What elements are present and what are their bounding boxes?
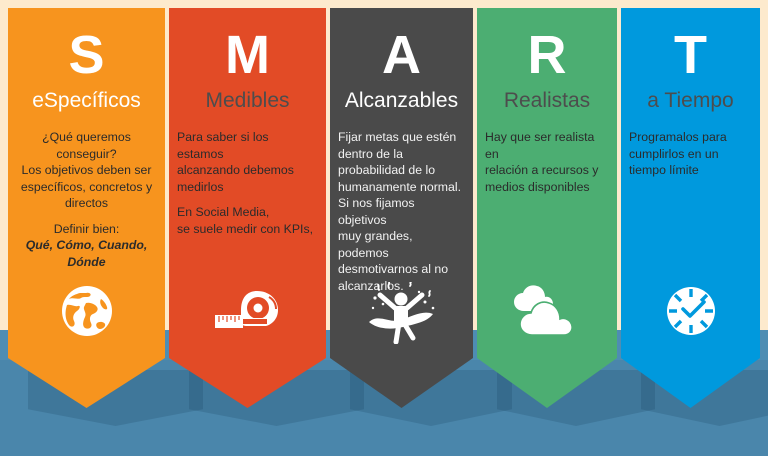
body-line: ¿Qué queremos conseguir? bbox=[16, 129, 157, 162]
body-line: humanamente normal. bbox=[338, 179, 465, 196]
body-line: cumplirlos en un bbox=[629, 146, 752, 163]
smart-infographic: S eSpecíficos ¿Qué queremos conseguir? L… bbox=[0, 0, 768, 456]
globe-icon bbox=[8, 276, 165, 346]
letter-s: S bbox=[8, 26, 165, 84]
letter-r: R bbox=[477, 26, 617, 84]
body-line: se suele medir con KPIs, bbox=[177, 221, 318, 238]
body-line: probabilidad de lo bbox=[338, 162, 465, 179]
banner-a-tiempo[interactable]: T a Tiempo Programalos para cumplirlos e… bbox=[621, 8, 760, 408]
body-line: medirlos bbox=[177, 179, 318, 196]
body-line: En Social Media, bbox=[177, 204, 318, 221]
body-medibles: Para saber si los estamos alcanzando deb… bbox=[169, 129, 326, 237]
heading-specificos: eSpecíficos bbox=[8, 88, 165, 113]
banner-realistas[interactable]: R Realistas Hay que ser realista en rela… bbox=[477, 8, 617, 408]
tape-measure-icon bbox=[169, 276, 326, 346]
body-line: Qué, Cómo, Cuando, Dónde bbox=[16, 237, 157, 270]
body-line: desmotivarnos al no bbox=[338, 261, 465, 278]
body-realistas: Hay que ser realista en relación a recur… bbox=[477, 129, 617, 195]
body-alcanzables: Fijar metas que estén dentro de la proba… bbox=[330, 129, 473, 294]
body-line: tiempo límite bbox=[629, 162, 752, 179]
body-line: muy grandes, podemos bbox=[338, 228, 465, 261]
body-line: Los objetivos deben ser bbox=[16, 162, 157, 179]
body-a-tiempo: Programalos para cumplirlos en un tiempo… bbox=[621, 129, 760, 179]
banner-alcanzables[interactable]: A Alcanzables Fijar metas que estén dent… bbox=[330, 8, 473, 408]
heading-medibles: Medibles bbox=[169, 88, 326, 113]
heading-a-tiempo: a Tiempo bbox=[621, 88, 760, 113]
body-line: Si nos fijamos objetivos bbox=[338, 195, 465, 228]
finish-line-runner-icon bbox=[330, 278, 473, 348]
body-line: alcanzando debemos bbox=[177, 162, 318, 179]
body-line: Definir bien: bbox=[16, 221, 157, 238]
body-line: Programalos para bbox=[629, 129, 752, 146]
letter-m: M bbox=[169, 26, 326, 84]
body-line: relación a recursos y bbox=[485, 162, 609, 179]
body-line: específicos, concretos y directos bbox=[16, 179, 157, 212]
letter-t: T bbox=[621, 26, 760, 84]
clouds-icon bbox=[477, 276, 617, 346]
body-line: Fijar metas que estén bbox=[338, 129, 465, 146]
clock-icon bbox=[621, 276, 760, 346]
body-specificos: ¿Qué queremos conseguir? Los objetivos d… bbox=[8, 129, 165, 270]
heading-alcanzables: Alcanzables bbox=[330, 88, 473, 113]
banner-specificos[interactable]: S eSpecíficos ¿Qué queremos conseguir? L… bbox=[8, 8, 165, 408]
body-line: Para saber si los estamos bbox=[177, 129, 318, 162]
body-line: medios disponibles bbox=[485, 179, 609, 196]
letter-a: A bbox=[330, 26, 473, 84]
heading-realistas: Realistas bbox=[477, 88, 617, 113]
body-line: Hay que ser realista en bbox=[485, 129, 609, 162]
body-line: dentro de la bbox=[338, 146, 465, 163]
banner-columns: S eSpecíficos ¿Qué queremos conseguir? L… bbox=[0, 0, 768, 456]
banner-medibles[interactable]: M Medibles Para saber si los estamos alc… bbox=[169, 8, 326, 408]
